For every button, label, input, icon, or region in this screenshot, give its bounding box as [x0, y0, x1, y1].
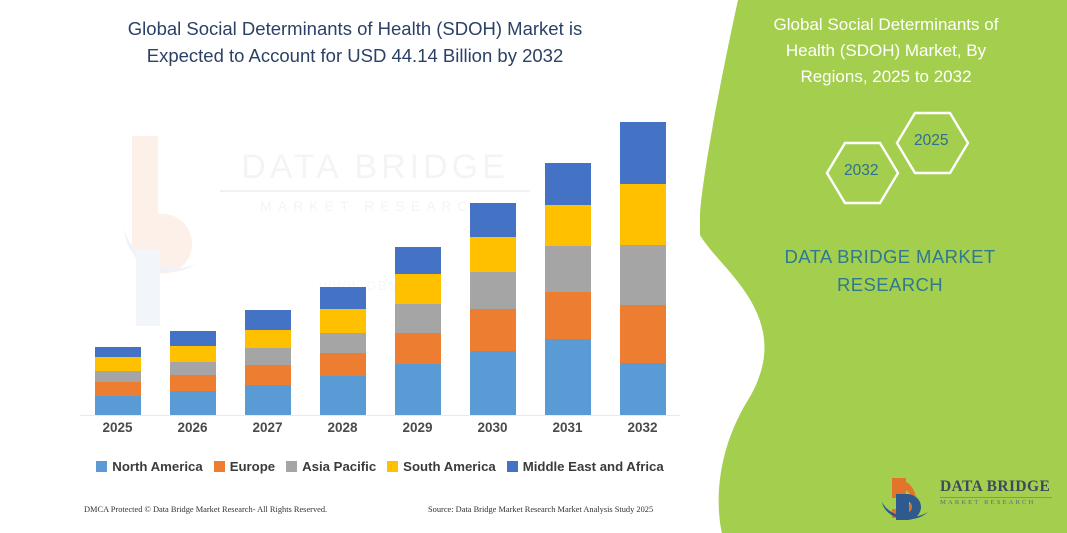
x-axis-tick-2025: 2025 [83, 420, 153, 435]
legend-label: Europe [230, 459, 275, 474]
legend-swatch-icon [214, 461, 225, 472]
chart-legend: North AmericaEuropeAsia PacificSouth Ame… [80, 455, 680, 477]
data-bridge-logo: DATA BRIDGE MARKET RESEARCH [880, 476, 1050, 522]
x-axis-tick-2030: 2030 [458, 420, 528, 435]
bar-segment-europe[interactable] [395, 333, 441, 363]
brand-panel-title: Global Social Determinants of Health (SD… [726, 12, 1046, 89]
brand-name-line-1: DATA BRIDGE MARKET [760, 243, 1020, 271]
infographic-root: Global Social Determinants of Health (SD… [0, 0, 1067, 533]
bar-segment-south-america[interactable] [320, 309, 366, 333]
x-axis-tick-2028: 2028 [308, 420, 378, 435]
bar-segment-north-america[interactable] [245, 385, 291, 415]
brand-title-line-3: Regions, 2025 to 2032 [726, 64, 1046, 90]
bar-segment-europe[interactable] [470, 309, 516, 351]
bar-column-2031[interactable] [545, 163, 591, 415]
legend-label: Middle East and Africa [523, 459, 664, 474]
legend-swatch-icon [387, 461, 398, 472]
logo-wordmark: DATA BRIDGE MARKET RESEARCH [940, 478, 1052, 506]
legend-item-south-america[interactable]: South America [387, 459, 496, 474]
x-axis-tick-2026: 2026 [158, 420, 228, 435]
bar-segment-north-america[interactable] [470, 351, 516, 415]
bar-segment-asia-pacific[interactable] [470, 272, 516, 309]
bar-segment-asia-pacific[interactable] [395, 304, 441, 333]
x-axis-tick-2027: 2027 [233, 420, 303, 435]
legend-item-north-america[interactable]: North America [96, 459, 202, 474]
bar-segment-middle-east-and-africa[interactable] [395, 247, 441, 274]
bar-column-2025[interactable] [95, 347, 141, 415]
page-title: Global Social Determinants of Health (SD… [60, 16, 650, 70]
bar-column-2030[interactable] [470, 203, 516, 415]
bar-column-2027[interactable] [245, 310, 291, 415]
bar-segment-south-america[interactable] [470, 237, 516, 273]
chart-panel: Global Social Determinants of Health (SD… [0, 0, 710, 533]
bar-segment-asia-pacific[interactable] [545, 246, 591, 292]
bar-segment-north-america[interactable] [545, 339, 591, 415]
legend-swatch-icon [507, 461, 518, 472]
bar-segment-middle-east-and-africa[interactable] [320, 287, 366, 309]
bar-segment-middle-east-and-africa[interactable] [620, 122, 666, 184]
bar-segment-europe[interactable] [95, 382, 141, 396]
axis-baseline [80, 415, 680, 416]
x-axis-tick-2032: 2032 [608, 420, 678, 435]
plot-area [80, 110, 680, 416]
legend-item-middle-east-and-africa[interactable]: Middle East and Africa [507, 459, 664, 474]
bar-segment-south-america[interactable] [170, 346, 216, 362]
brand-name-line-2: RESEARCH [760, 271, 1020, 299]
legend-swatch-icon [286, 461, 297, 472]
bar-column-2026[interactable] [170, 331, 216, 415]
bar-segment-north-america[interactable] [620, 363, 666, 415]
brand-title-line-1: Global Social Determinants of [726, 12, 1046, 38]
bar-segment-europe[interactable] [245, 365, 291, 385]
bar-segment-north-america[interactable] [170, 391, 216, 415]
bar-segment-south-america[interactable] [545, 205, 591, 246]
bar-segment-middle-east-and-africa[interactable] [170, 331, 216, 346]
bar-segment-south-america[interactable] [620, 184, 666, 245]
legend-label: North America [112, 459, 202, 474]
bar-segment-north-america[interactable] [320, 376, 366, 415]
hex-label-2025: 2025 [914, 132, 948, 150]
bar-segment-europe[interactable] [170, 375, 216, 391]
bar-segment-middle-east-and-africa[interactable] [245, 310, 291, 330]
hex-label-2032: 2032 [844, 162, 878, 180]
bar-column-2032[interactable] [620, 122, 666, 415]
bar-segment-asia-pacific[interactable] [320, 333, 366, 353]
legend-item-europe[interactable]: Europe [214, 459, 275, 474]
legend-item-asia-pacific[interactable]: Asia Pacific [286, 459, 376, 474]
bar-segment-asia-pacific[interactable] [245, 348, 291, 365]
x-axis-tick-2029: 2029 [383, 420, 453, 435]
bar-segment-asia-pacific[interactable] [170, 362, 216, 376]
bar-segment-north-america[interactable] [95, 396, 141, 415]
footer-copyright: DMCA Protected © Data Bridge Market Rese… [84, 505, 327, 514]
legend-label: Asia Pacific [302, 459, 376, 474]
bar-segment-south-america[interactable] [245, 330, 291, 348]
bar-segment-south-america[interactable] [395, 274, 441, 303]
bar-segment-asia-pacific[interactable] [620, 245, 666, 305]
brand-title-line-2: Health (SDOH) Market, By [726, 38, 1046, 64]
brand-name: DATA BRIDGE MARKET RESEARCH [760, 243, 1020, 299]
hexagon-outlines-icon [810, 110, 990, 210]
bar-segment-asia-pacific[interactable] [95, 371, 141, 383]
hexagon-group: 2025 2032 [810, 110, 990, 210]
page-title-line-1: Global Social Determinants of Health (SD… [60, 16, 650, 43]
bar-segment-europe[interactable] [620, 305, 666, 363]
logo-subtitle: MARKET RESEARCH [940, 499, 1052, 506]
footer-source: Source: Data Bridge Market Research Mark… [428, 505, 653, 514]
bar-column-2028[interactable] [320, 287, 366, 415]
bar-segment-europe[interactable] [545, 292, 591, 339]
bar-segment-north-america[interactable] [395, 364, 441, 415]
bar-segment-middle-east-and-africa[interactable] [545, 163, 591, 205]
bar-segment-middle-east-and-africa[interactable] [470, 203, 516, 237]
bar-segment-europe[interactable] [320, 353, 366, 376]
x-axis-tick-2031: 2031 [533, 420, 603, 435]
logo-divider [940, 497, 1052, 498]
footer: DMCA Protected © Data Bridge Market Rese… [0, 505, 700, 527]
x-axis-labels: 20252026202720282029203020312032 [80, 420, 680, 442]
logo-title: DATA BRIDGE [940, 478, 1052, 496]
legend-label: South America [403, 459, 496, 474]
bar-segment-south-america[interactable] [95, 357, 141, 371]
bar-column-2029[interactable] [395, 247, 441, 415]
page-title-line-2: Expected to Account for USD 44.14 Billio… [60, 43, 650, 70]
bar-segment-middle-east-and-africa[interactable] [95, 347, 141, 357]
data-bridge-mark-icon [880, 476, 938, 522]
legend-swatch-icon [96, 461, 107, 472]
